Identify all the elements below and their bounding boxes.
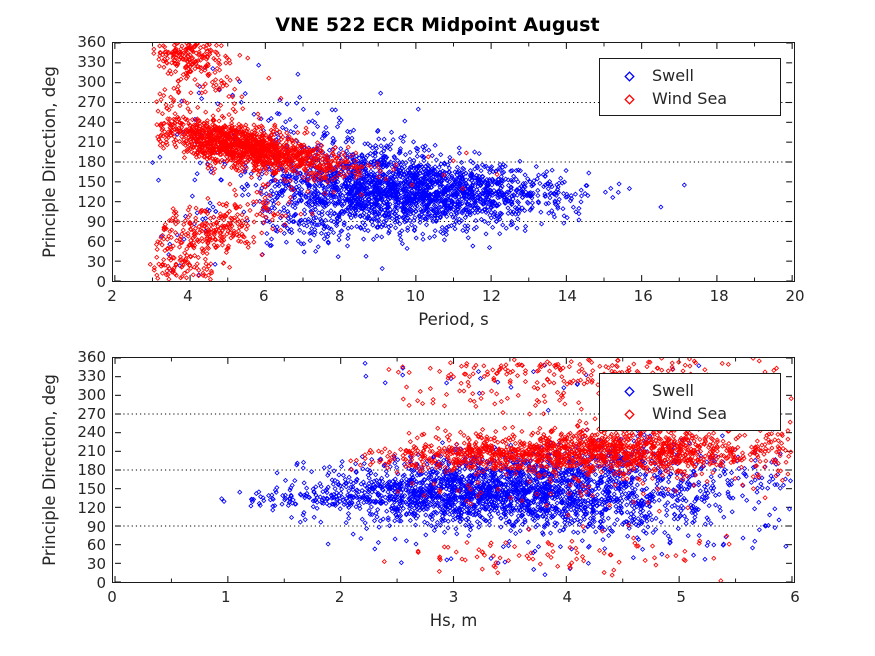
x-tick-label: 1 [221,588,231,606]
y-tick-label: 270 [64,93,106,111]
y-tick-label: 180 [64,461,106,479]
figure-title: VNE 522 ECR Midpoint August [0,14,875,36]
x-tick-label: 6 [790,588,800,606]
y-tick-label: 0 [64,273,106,291]
swell-diamond-icon [606,381,652,400]
y-tick-label: 270 [64,405,106,423]
x-tick-label: 3 [449,588,459,606]
legend-entry-wind-sea[interactable]: Wind Sea [606,87,770,110]
x-axis-label-bottom: Hs, m [430,611,478,630]
y-tick-label: 150 [64,480,106,498]
y-tick-label: 90 [64,518,106,536]
y-tick-label: 60 [64,233,106,251]
wind-sea-diamond-icon [606,89,652,108]
legend-label-wind-sea: Wind Sea [652,404,727,423]
y-tick-label: 150 [64,173,106,191]
legend-entry-swell[interactable]: Swell [606,64,770,87]
y-tick-label: 90 [64,213,106,231]
swell-diamond-icon [606,66,652,85]
y-tick-label: 300 [64,73,106,91]
legend-label-wind-sea: Wind Sea [652,89,727,108]
x-tick-label: 4 [183,287,193,305]
x-tick-label: 14 [558,287,577,305]
x-tick-label: 18 [710,287,729,305]
legend-label-swell: Swell [652,66,694,85]
x-tick-label: 16 [634,287,653,305]
x-tick-label: 2 [335,588,345,606]
legend-label-swell: Swell [652,381,694,400]
figure-container: VNE 522 ECR Midpoint August 030609012015… [0,0,875,656]
x-tick-label: 6 [259,287,269,305]
y-axis-label-top: Principle Direction, deg [40,66,59,258]
x-tick-label: 12 [482,287,501,305]
y-tick-label: 30 [64,555,106,573]
x-tick-label: 10 [406,287,425,305]
y-tick-label: 30 [64,253,106,271]
x-tick-label: 20 [785,287,804,305]
y-tick-label: 330 [64,53,106,71]
y-tick-label: 330 [64,367,106,385]
y-tick-label: 210 [64,133,106,151]
y-tick-label: 120 [64,193,106,211]
x-tick-label: 4 [563,588,573,606]
y-tick-label: 120 [64,499,106,517]
y-tick-label: 60 [64,536,106,554]
x-tick-label: 8 [335,287,345,305]
x-tick-label: 2 [107,287,117,305]
y-tick-label: 240 [64,113,106,131]
y-tick-label: 0 [64,574,106,592]
y-tick-label: 210 [64,442,106,460]
x-tick-label: 5 [676,588,686,606]
x-axis-label-top: Period, s [418,310,489,329]
y-tick-label: 240 [64,423,106,441]
wind-sea-diamond-icon [606,404,652,423]
legend-top: Swell Wind Sea [599,58,781,116]
y-tick-label: 180 [64,153,106,171]
y-tick-label: 360 [64,33,106,51]
y-axis-label-bottom: Principle Direction, deg [40,374,59,566]
y-tick-label: 300 [64,386,106,404]
legend-bottom: Swell Wind Sea [599,373,781,431]
legend-entry-wind-sea[interactable]: Wind Sea [606,402,770,425]
y-tick-label: 360 [64,348,106,366]
legend-entry-swell[interactable]: Swell [606,379,770,402]
x-tick-label: 0 [107,588,117,606]
